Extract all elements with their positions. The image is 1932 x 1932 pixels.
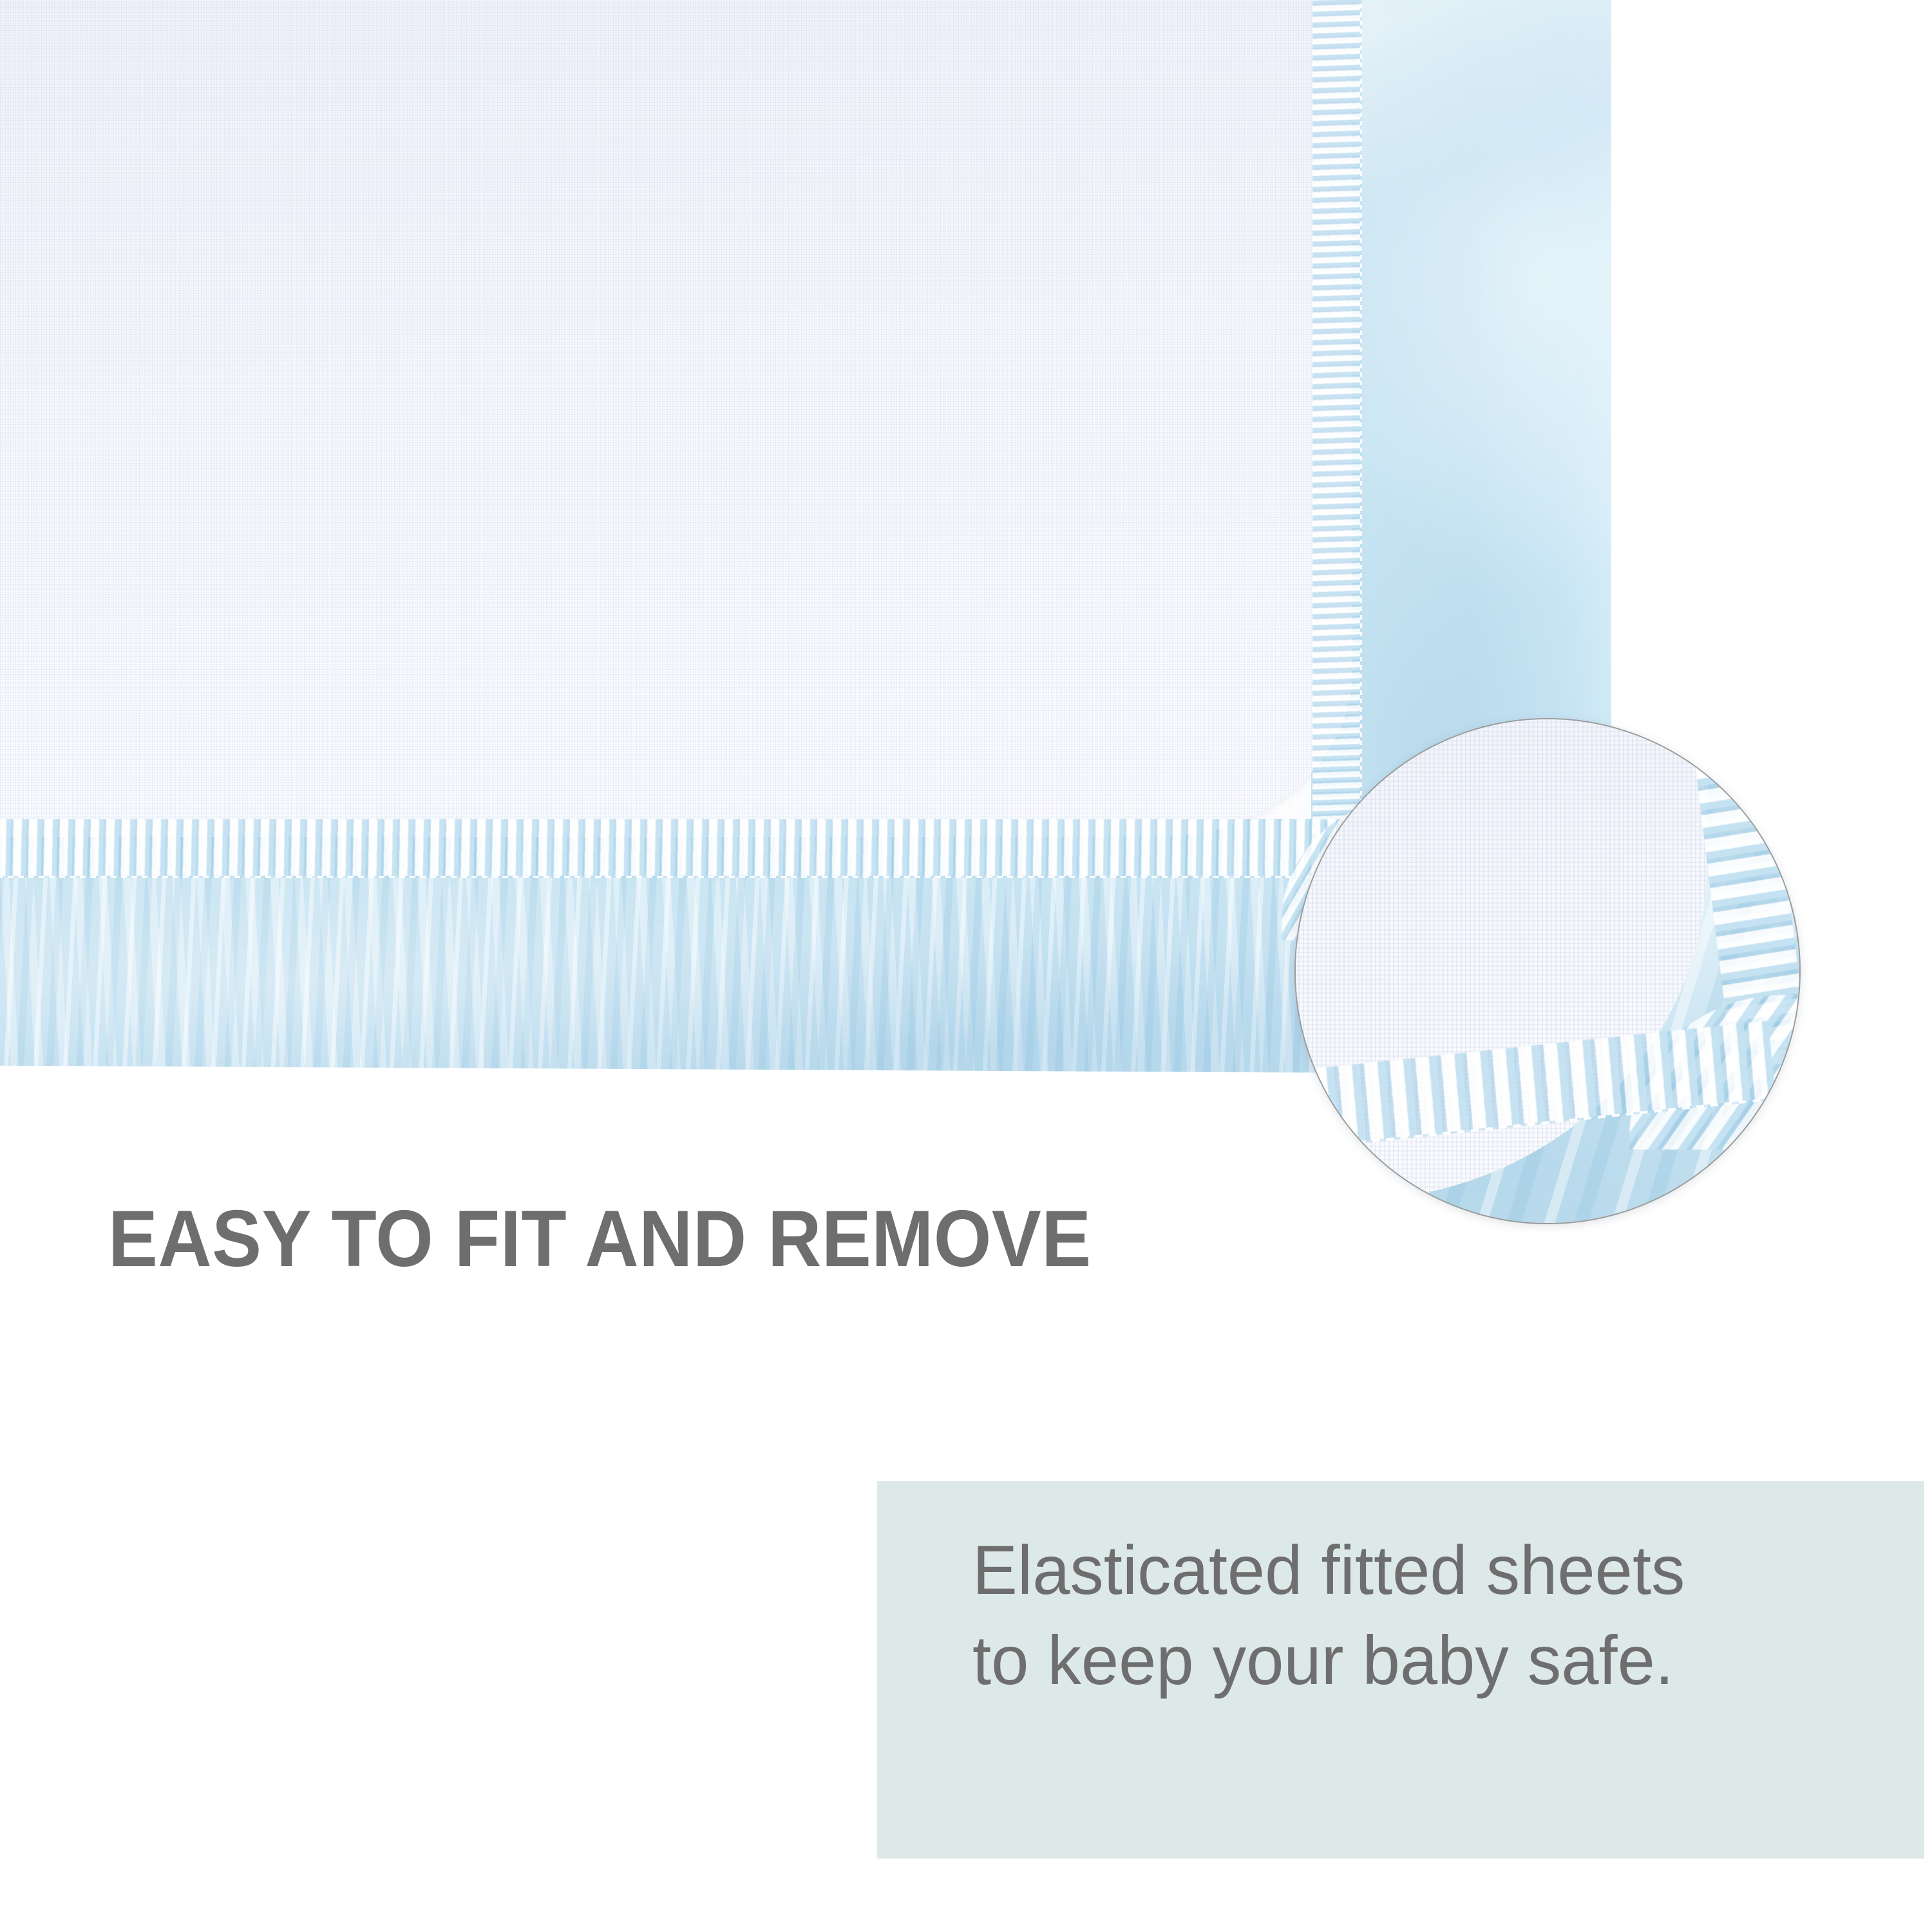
white-sheet-rounded-corner xyxy=(0,0,1352,837)
caption-text: Elasticated fitted sheets to keep your b… xyxy=(972,1525,1685,1706)
detail-zoom-circle xyxy=(1294,718,1801,1224)
headline-text: EASY TO FIT AND REMOVE xyxy=(108,1199,1092,1279)
gathered-elastic-ruffle-bottom xyxy=(0,819,1365,876)
stitch-line-bottom xyxy=(0,876,1365,878)
marketing-image-canvas: EASY TO FIT AND REMOVE Elasticated fitte… xyxy=(0,0,1932,1932)
zoom-circle-content xyxy=(1294,718,1801,1224)
